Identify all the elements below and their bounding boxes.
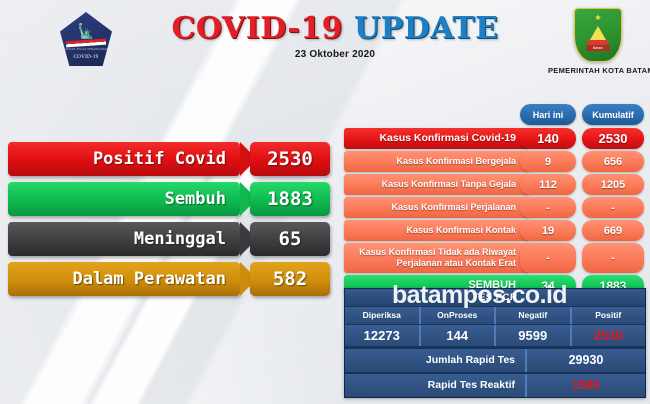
test-table-title: TES PCR: [345, 289, 645, 307]
summary-value: 1883: [267, 188, 313, 210]
garuda-icon: 🗽: [75, 23, 97, 39]
summary-label: Positif Covid: [93, 149, 226, 169]
column-header-hari-ini: Hari ini: [520, 104, 576, 125]
breakdown-today: 140: [520, 128, 576, 149]
breakdown-label: Kasus Konfirmasi Kontak: [406, 225, 516, 236]
test-table: TES PCR Diperiksa OnProses Negatif Posit…: [344, 288, 646, 398]
test-value-negatif: 9599: [496, 325, 572, 346]
breakdown-cumulative: 1205: [582, 174, 644, 195]
test-header-diperiksa: Diperiksa: [345, 307, 421, 324]
breakdown-label-box: Kasus Konfirmasi Perjalanan: [344, 197, 530, 218]
summary-value: 2530: [267, 148, 313, 170]
report-date: 23 Oktober 2020: [160, 49, 510, 60]
test-value-diperiksa: 12273: [345, 325, 421, 346]
table-row-rapid-tes-reaktif: Rapid Tes Reaktif 1580: [345, 372, 645, 397]
test-header-onproses: OnProses: [421, 307, 497, 324]
summary-label-arrow: Sembuh: [8, 182, 240, 216]
breakdown-today: 9: [520, 151, 576, 172]
breakdown-label-box: Kasus Konfirmasi Tanpa Gejala: [344, 174, 530, 195]
column-header-kumulatif: Kumulatif: [582, 104, 644, 125]
summary-value-box: 582: [250, 262, 330, 296]
page-title: COVID-19 UPDATE: [160, 12, 510, 46]
summary-value-box: 2530: [250, 142, 330, 176]
title-covid19: COVID-19: [171, 11, 343, 46]
test-table-value-row: 12273 144 9599 2530: [345, 325, 645, 347]
summary-label-arrow: Dalam Perawatan: [8, 262, 240, 296]
batam-government-logo: ★ Batam PEMERINTAH KOTA BATAM: [548, 8, 648, 75]
test-header-negatif: Negatif: [496, 307, 572, 324]
breakdown-cumulative: -: [582, 243, 644, 273]
breakdown-label: Kasus Konfirmasi Tanpa Gejala: [382, 179, 516, 190]
test-value-onproses: 144: [421, 325, 497, 346]
breakdown-label: Kasus Konfirmasi Bergejala: [396, 156, 516, 167]
test-table-header-row: Diperiksa OnProses Negatif Positif: [345, 307, 645, 325]
breakdown-row: Kasus Konfirmasi Tanpa Gejala 112 1205: [344, 174, 646, 195]
summary-label: Dalam Perawatan: [72, 269, 226, 289]
breakdown-today: 19: [520, 220, 576, 241]
rapid-total-label: Jumlah Rapid Tes: [345, 349, 527, 372]
summary-value-box: 65: [250, 222, 330, 256]
breakdown-cumulative: 669: [582, 220, 644, 241]
test-value-positif: 2530: [572, 325, 646, 346]
summary-row-dalam-perawatan: Dalam Perawatan 582: [6, 262, 332, 296]
summary-panel: Positif Covid 2530 Sembuh 1883 Meninggal…: [6, 142, 332, 302]
breakdown-label-box: Kasus Konfirmasi Kontak: [344, 220, 530, 241]
flag-ribbon-icon: [66, 39, 106, 48]
summary-value: 582: [273, 268, 307, 290]
breakdown-today: -: [520, 243, 576, 273]
rapid-reactive-value: 1580: [527, 374, 645, 397]
summary-label: Meninggal: [134, 229, 226, 249]
breakdown-label-box: Kasus Konfirmasi Bergejala: [344, 151, 530, 172]
title-update: UPDATE: [354, 11, 499, 46]
breakdown-cumulative: 2530: [582, 128, 644, 149]
satgas-covid-logo: 🗽 SATUAN TUGAS PENANGANAN COVID-19: [52, 10, 120, 80]
breakdown-row: Kasus Konfirmasi Covid-19 140 2530: [344, 128, 646, 149]
pentagon-shield-icon: 🗽 SATUAN TUGAS PENANGANAN COVID-19: [60, 12, 112, 66]
test-header-positif: Positif: [572, 307, 646, 324]
star-icon: ★: [594, 14, 601, 22]
header: 🗽 SATUAN TUGAS PENANGANAN COVID-19 COVID…: [0, 0, 650, 86]
breakdown-today: -: [520, 197, 576, 218]
shield-icon: ★ Batam: [574, 8, 622, 62]
summary-row-sembuh: Sembuh 1883: [6, 182, 332, 216]
breakdown-cumulative: 656: [582, 151, 644, 172]
breakdown-row: Kasus Konfirmasi Tidak ada Riwayat Perja…: [344, 243, 646, 273]
breakdown-label: Kasus Konfirmasi Covid-19: [379, 133, 516, 144]
rapid-reactive-label: Rapid Tes Reaktif: [345, 374, 527, 397]
shield-plaque: Batam: [586, 45, 610, 51]
summary-label-arrow: Meninggal: [8, 222, 240, 256]
breakdown-cumulative: -: [582, 197, 644, 218]
summary-label-arrow: Positif Covid: [8, 142, 240, 176]
breakdown-panel: Hari ini Kumulatif Kasus Konfirmasi Covi…: [344, 104, 646, 296]
infographic-canvas: 🗽 SATUAN TUGAS PENANGANAN COVID-19 COVID…: [0, 0, 650, 404]
satgas-logo-line2: COVID-19: [60, 54, 112, 60]
sail-icon: [590, 26, 606, 40]
summary-row-positif: Positif Covid 2530: [6, 142, 332, 176]
satgas-logo-line1: SATUAN TUGAS PENANGANAN: [60, 48, 112, 51]
title-block: COVID-19 UPDATE 23 Oktober 2020: [160, 12, 510, 60]
breakdown-row: Kasus Konfirmasi Bergejala 9 656: [344, 151, 646, 172]
breakdown-label-box: Kasus Konfirmasi Covid-19: [344, 128, 530, 149]
government-label: PEMERINTAH KOTA BATAM: [548, 66, 648, 75]
summary-value: 65: [279, 228, 302, 250]
summary-value-box: 1883: [250, 182, 330, 216]
breakdown-today: 112: [520, 174, 576, 195]
breakdown-row: Kasus Konfirmasi Perjalanan - -: [344, 197, 646, 218]
breakdown-column-headers: Hari ini Kumulatif: [344, 104, 646, 126]
breakdown-label-box: Kasus Konfirmasi Tidak ada Riwayat Perja…: [344, 243, 530, 273]
breakdown-row: Kasus Konfirmasi Kontak 19 669: [344, 220, 646, 241]
summary-label: Sembuh: [165, 189, 226, 209]
breakdown-label: Kasus Konfirmasi Tidak ada Riwayat Perja…: [344, 247, 516, 269]
table-row-jumlah-rapid-tes: Jumlah Rapid Tes 29930: [345, 347, 645, 372]
rapid-total-value: 29930: [527, 349, 645, 372]
breakdown-label: Kasus Konfirmasi Perjalanan: [391, 202, 516, 213]
summary-row-meninggal: Meninggal 65: [6, 222, 332, 256]
